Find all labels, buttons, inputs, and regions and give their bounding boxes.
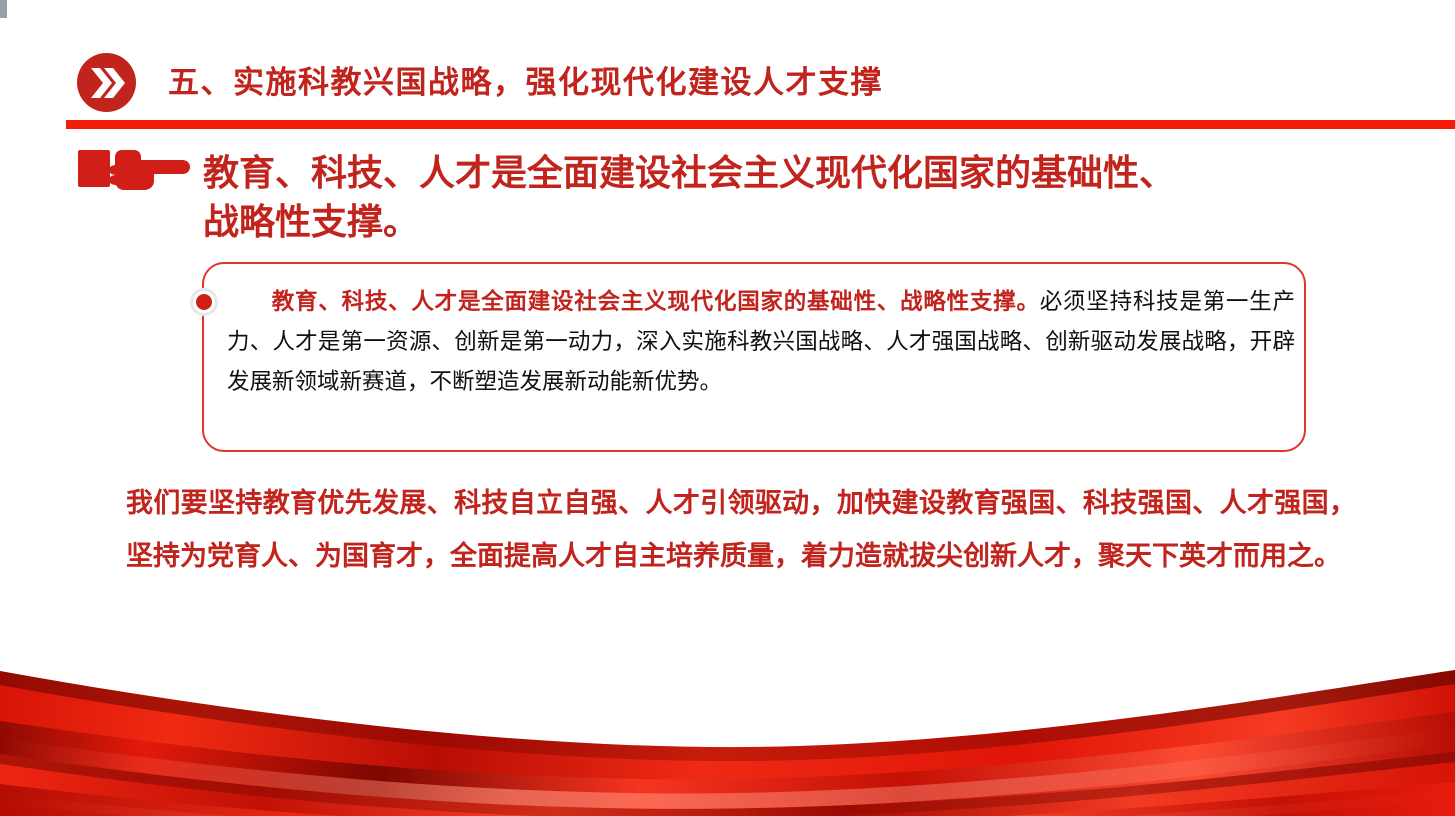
body-paragraph: 我们要坚持教育优先发展、科技自立自强、人才引领驱动，加快建设教育强国、科技强国、… xyxy=(126,477,1356,583)
header-divider-rule xyxy=(66,120,1455,129)
quote-text: 教育、科技、人才是全面建设社会主义现代化国家的基础性、战略性支撑。必须坚持科技是… xyxy=(227,282,1295,402)
red-dot-bullet-icon xyxy=(190,288,218,316)
pointing-hand-icon xyxy=(78,143,193,195)
slide-header: 五、实施科教兴国战略，强化现代化建设人才支撑 xyxy=(0,20,1455,108)
slide-canvas: 五、实施科教兴国战略，强化现代化建设人才支撑 教育、科技、人才是全面建设社会主义… xyxy=(0,0,1455,816)
page-title: 五、实施科教兴国战略，强化现代化建设人才支撑 xyxy=(168,63,883,103)
main-heading-line1: 教育、科技、人才是全面建设社会主义现代化国家的基础性、 xyxy=(203,152,1175,193)
double-chevron-right-icon xyxy=(77,53,136,112)
quote-lead-bold: 教育、科技、人才是全面建设社会主义现代化国家的基础性、战略性支撑。 xyxy=(271,289,1040,314)
main-heading-line2: 战略性支撑。 xyxy=(203,197,1403,246)
main-heading: 教育、科技、人才是全面建设社会主义现代化国家的基础性、 战略性支撑。 xyxy=(203,148,1403,246)
red-silk-ribbon-decoration xyxy=(0,626,1455,816)
corner-accent-mark xyxy=(0,0,7,18)
